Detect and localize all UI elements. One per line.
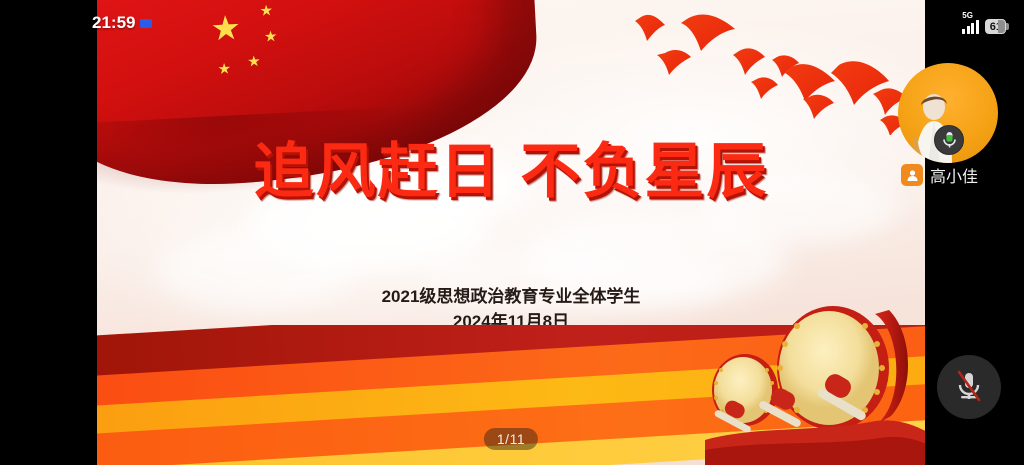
mic-mute-button[interactable] bbox=[937, 355, 1001, 419]
network-type-label: 5G bbox=[962, 11, 973, 20]
status-bar-left: 21:59 bbox=[92, 13, 152, 33]
flag-star-icon: ★ bbox=[210, 11, 242, 47]
signal-bar bbox=[971, 23, 974, 34]
presentation-slide[interactable]: ★ ★ ★ ★ ★ bbox=[97, 0, 925, 465]
mic-muted-icon bbox=[954, 370, 984, 404]
flag-star-icon: ★ bbox=[247, 54, 261, 70]
chinese-drums-graphic bbox=[705, 290, 925, 465]
status-bar-right: 5G 61 bbox=[962, 12, 1006, 34]
signal-bar bbox=[962, 29, 965, 34]
mic-glyph bbox=[942, 131, 957, 149]
avatar-wrapper[interactable] bbox=[898, 63, 998, 163]
flag-star-icon: ★ bbox=[264, 29, 278, 45]
battery-empty-portion bbox=[998, 20, 1005, 33]
person-icon bbox=[901, 164, 923, 186]
flag-star-icon: ★ bbox=[259, 3, 273, 19]
flying-birds-graphic bbox=[617, 5, 925, 135]
participant-name-row: 高小佳 bbox=[901, 163, 978, 187]
flag-star-icon: ★ bbox=[217, 61, 231, 77]
participant-panel: 高小佳 bbox=[925, 0, 1024, 465]
participant-name: 高小佳 bbox=[930, 163, 978, 187]
clock: 21:59 bbox=[92, 13, 135, 33]
page-indicator: 1/11 bbox=[484, 428, 538, 450]
person-glyph bbox=[906, 169, 919, 182]
signal-bar bbox=[967, 26, 970, 34]
signal-bar bbox=[976, 20, 979, 34]
battery-indicator: 61 bbox=[985, 19, 1006, 34]
blue-notification-icon bbox=[140, 19, 152, 28]
phone-screen: ★ ★ ★ ★ ★ bbox=[0, 0, 1024, 465]
mic-active-icon bbox=[934, 125, 964, 155]
signal-bars-icon: 5G bbox=[962, 12, 979, 34]
slide-title: 追风赶日 不负星辰 bbox=[97, 123, 925, 210]
